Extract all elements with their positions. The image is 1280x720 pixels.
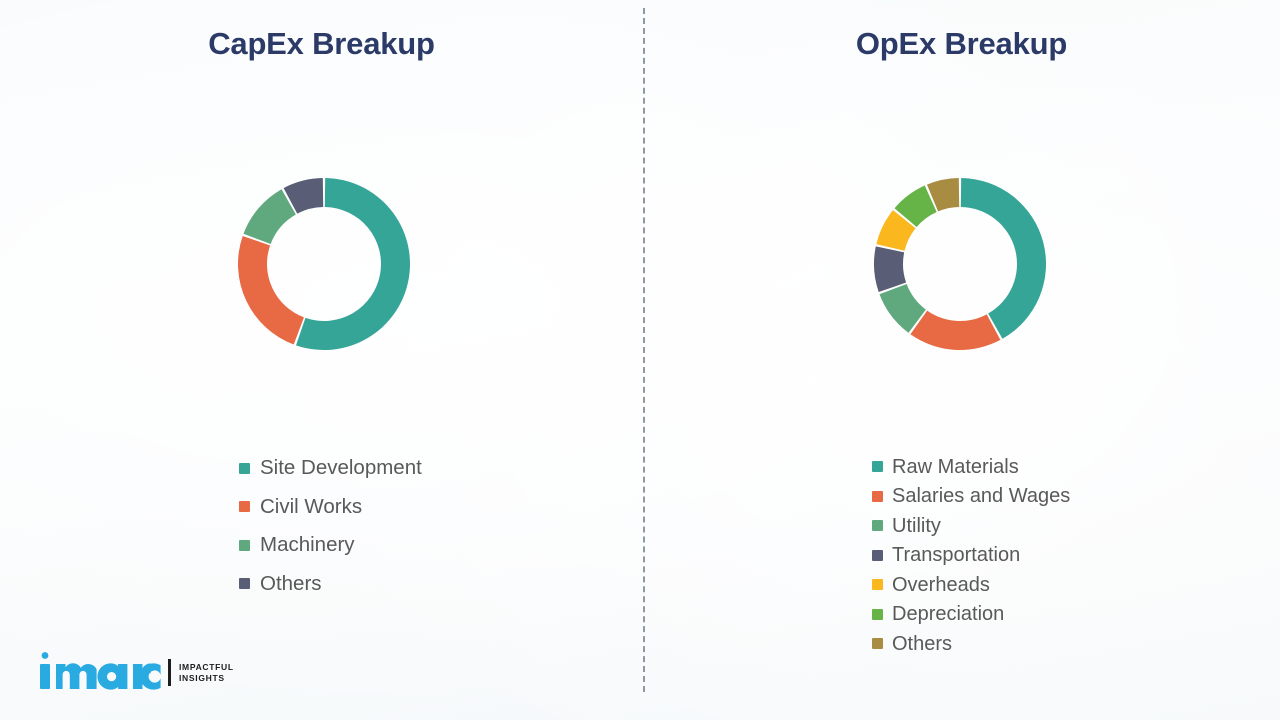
- legend-swatch-icon: [872, 550, 883, 561]
- slide-canvas: CapEx Breakup Site DevelopmentCivil Work…: [0, 0, 1280, 720]
- legend-swatch-icon: [239, 501, 250, 512]
- legend-item: Civil Works: [239, 488, 422, 527]
- legend-item: Machinery: [239, 526, 422, 565]
- legend-item: Site Development: [239, 449, 422, 488]
- legend-item-label: Raw Materials: [892, 457, 1019, 477]
- legend-item-label: Others: [260, 574, 322, 595]
- opex-slice-group: [874, 178, 1046, 350]
- opex-donut-chart: [872, 176, 1048, 352]
- imarc-logo: imarc IMPACTFUL INSIGHTS: [36, 651, 234, 691]
- legend-swatch-icon: [872, 579, 883, 590]
- legend-item-label: Overheads: [892, 575, 990, 595]
- legend-item: Others: [239, 565, 422, 604]
- capex-slice-group: [238, 178, 410, 350]
- capex-legend: Site DevelopmentCivil WorksMachineryOthe…: [239, 449, 422, 603]
- logo-tagline: IMPACTFUL INSIGHTS: [179, 662, 234, 684]
- legend-item: Raw Materials: [872, 452, 1070, 482]
- capex-donut-chart: [236, 176, 412, 352]
- legend-swatch-icon: [872, 638, 883, 649]
- donut-slice: [961, 178, 1046, 339]
- donut-slice: [238, 236, 304, 344]
- imarc-wordmark-icon: imarc: [36, 651, 161, 691]
- legend-item: Overheads: [872, 570, 1070, 600]
- legend-item: Utility: [872, 511, 1070, 541]
- legend-item-label: Depreciation: [892, 604, 1004, 624]
- legend-item: Transportation: [872, 541, 1070, 571]
- donut-slice: [910, 311, 1000, 350]
- donut-slice: [243, 189, 295, 244]
- legend-item-label: Salaries and Wages: [892, 486, 1070, 506]
- logo-tagline-line1: IMPACTFUL: [179, 662, 234, 673]
- donut-slice: [874, 246, 906, 292]
- legend-item-label: Others: [892, 634, 952, 654]
- legend-item-label: Site Development: [260, 458, 422, 479]
- legend-swatch-icon: [872, 461, 883, 472]
- legend-swatch-icon: [872, 520, 883, 531]
- legend-swatch-icon: [239, 463, 250, 474]
- opex-panel: OpEx Breakup Raw MaterialsSalaries and W…: [643, 0, 1280, 720]
- legend-swatch-icon: [239, 578, 250, 589]
- legend-swatch-icon: [239, 540, 250, 551]
- capex-panel: CapEx Breakup Site DevelopmentCivil Work…: [0, 0, 643, 720]
- legend-swatch-icon: [872, 491, 883, 502]
- logo-tagline-line2: INSIGHTS: [179, 673, 234, 684]
- legend-item-label: Civil Works: [260, 497, 362, 518]
- capex-title: CapEx Breakup: [0, 26, 643, 62]
- legend-item-label: Transportation: [892, 545, 1020, 565]
- legend-swatch-icon: [872, 609, 883, 620]
- legend-item-label: Machinery: [260, 535, 355, 556]
- legend-item: Depreciation: [872, 600, 1070, 630]
- legend-item: Salaries and Wages: [872, 482, 1070, 512]
- legend-item: Others: [872, 629, 1070, 659]
- opex-title: OpEx Breakup: [643, 26, 1280, 62]
- logo-divider-rule: [168, 659, 171, 686]
- legend-item-label: Utility: [892, 516, 941, 536]
- opex-donut-svg: [872, 176, 1048, 352]
- opex-legend: Raw MaterialsSalaries and WagesUtilityTr…: [872, 452, 1070, 659]
- capex-donut-svg: [236, 176, 412, 352]
